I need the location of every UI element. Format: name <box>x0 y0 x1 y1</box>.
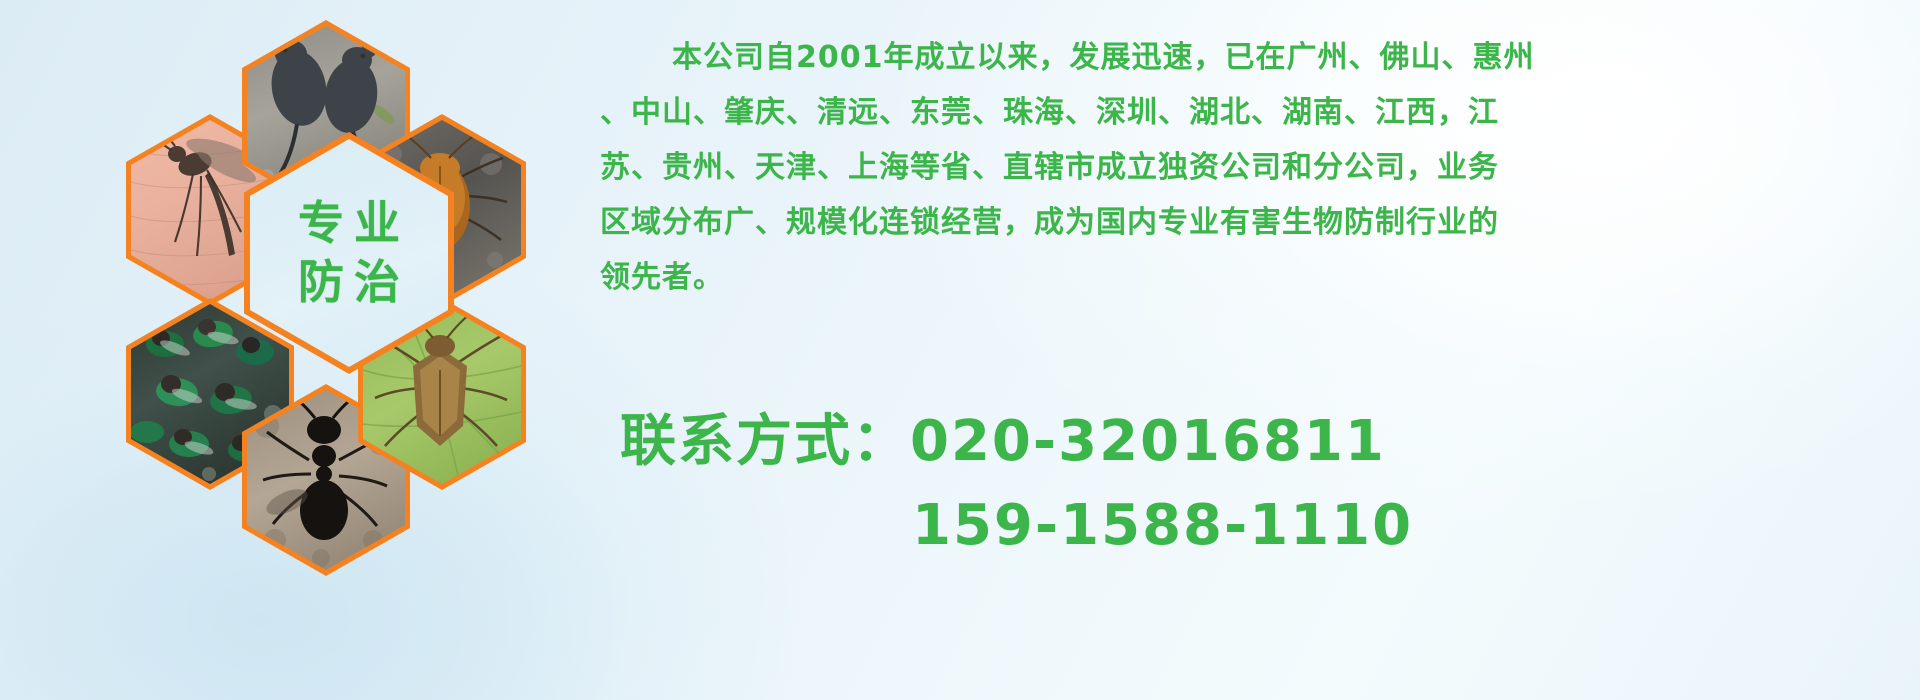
banner-root: 专业 防治 本公司自2001年成立以来，发展迅速，已在广州、佛山、惠州 、中山、… <box>0 0 1920 700</box>
honeycomb-gallery: 专业 防治 <box>92 14 592 574</box>
contact-line-landline[interactable]: 联系方式：020-32016811 <box>620 400 1920 484</box>
intro-line-2: 、中山、肇庆、清远、东莞、珠海、深圳、湖北、湖南、江西，江 <box>600 85 1900 140</box>
intro-paragraph: 本公司自2001年成立以来，发展迅速，已在广州、佛山、惠州 、中山、肇庆、清远、… <box>600 30 1900 305</box>
logo-line-1: 专业 <box>288 194 410 253</box>
contact-line-mobile[interactable]: 159-1588-1110 <box>620 484 1920 568</box>
intro-line-3: 苏、贵州、天津、上海等省、直辖市成立独资公司和分公司，业务 <box>600 140 1900 195</box>
intro-line-5: 领先者。 <box>600 250 1900 305</box>
intro-line-1: 本公司自2001年成立以来，发展迅速，已在广州、佛山、惠州 <box>600 30 1900 85</box>
contact-block: 联系方式：020-32016811 159-1588-1110 <box>620 400 1920 568</box>
intro-line-4: 区域分布广、规模化连锁经营，成为国内专业有害生物防制行业的 <box>600 195 1900 250</box>
hex-cell-logo-inner: 专业 防治 <box>250 139 448 367</box>
intro-block: 本公司自2001年成立以来，发展迅速，已在广州、佛山、惠州 、中山、肇庆、清远、… <box>600 30 1900 305</box>
logo-line-2: 防治 <box>288 253 410 312</box>
